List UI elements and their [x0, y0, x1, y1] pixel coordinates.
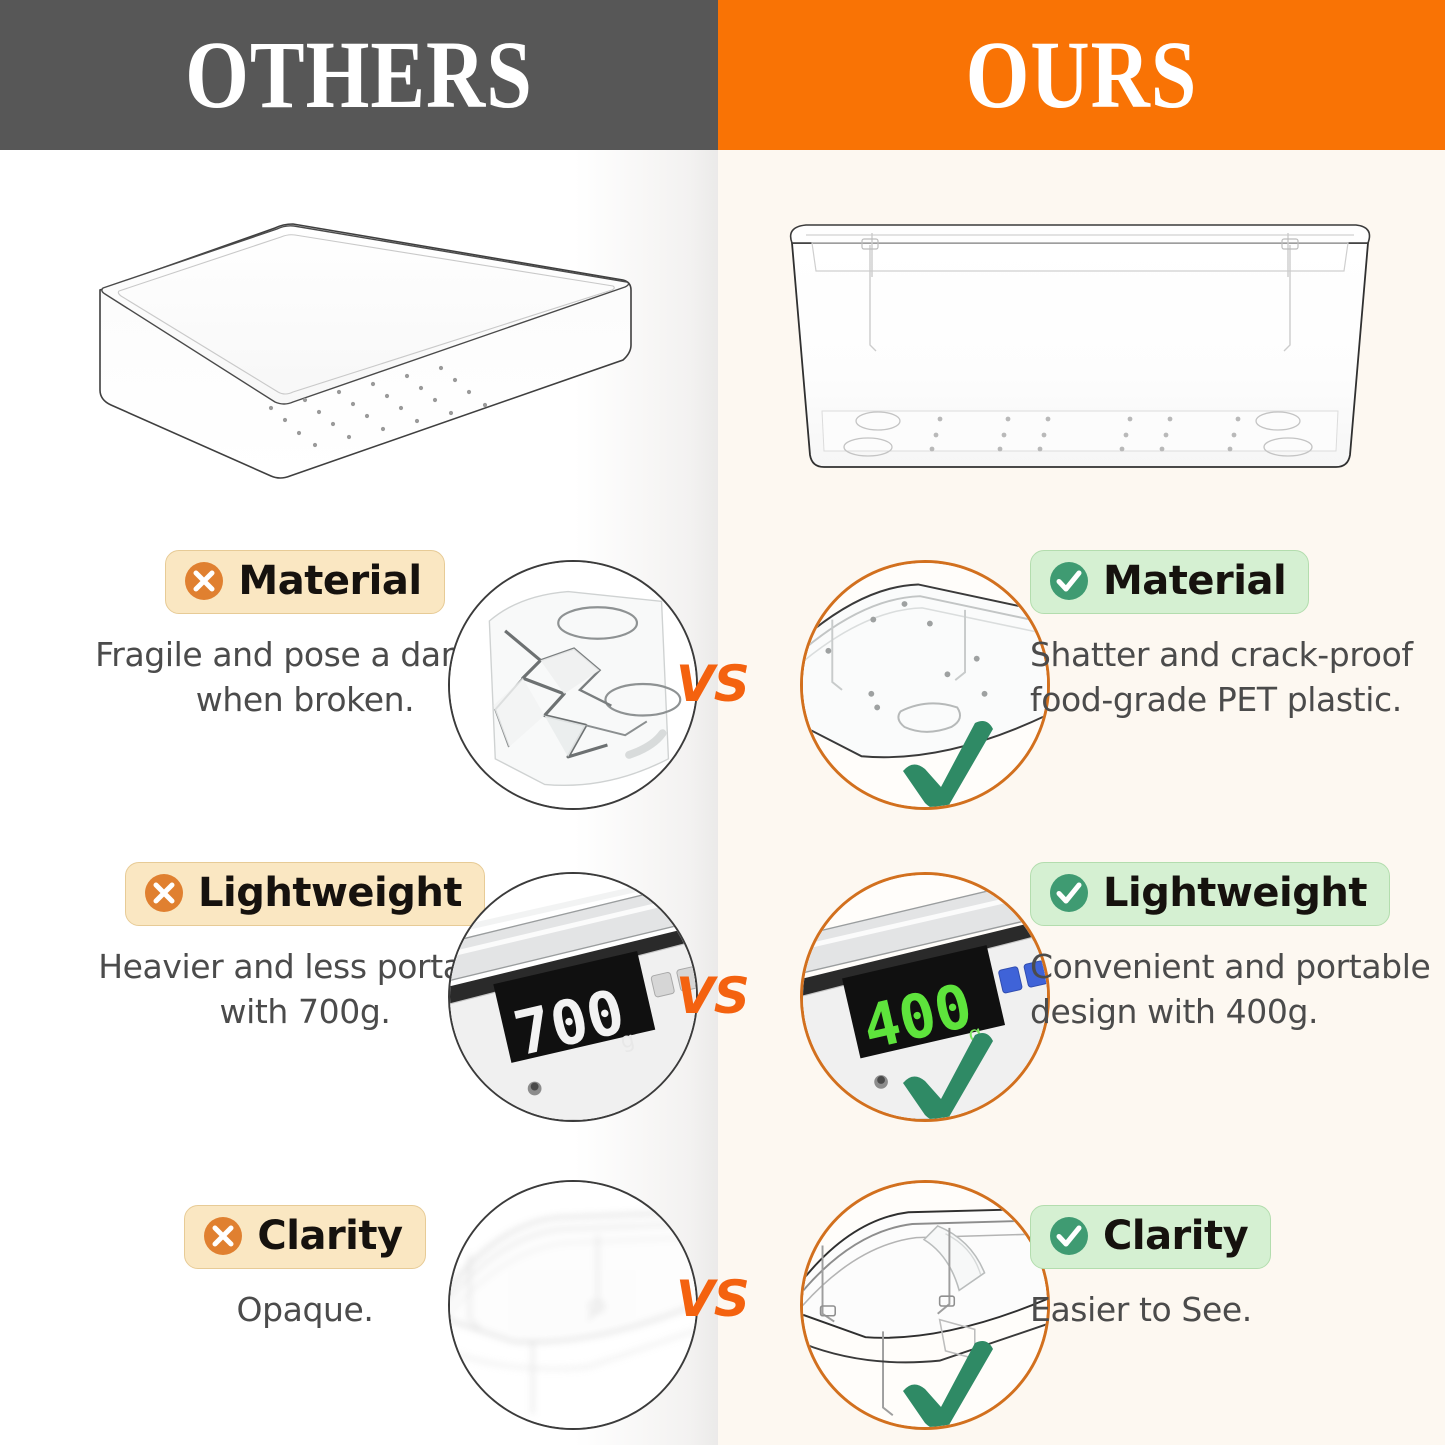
hero-image-others	[75, 220, 655, 490]
material-ours-block: Material Shatter and crack-proof food-gr…	[1030, 550, 1445, 722]
badge-lightweight-ours-label: Lightweight	[1103, 872, 1367, 914]
cross-circle-icon	[143, 872, 185, 914]
hero-images	[0, 150, 1445, 550]
badge-lightweight-others: Lightweight	[125, 862, 485, 926]
header-ours-title: OURS	[966, 27, 1198, 124]
badge-clarity-ours: Clarity	[1030, 1205, 1271, 1269]
lightweight-others-photo: 700 g	[448, 872, 698, 1122]
badge-lightweight-ours: Lightweight	[1030, 862, 1390, 926]
badge-material-ours: Material	[1030, 550, 1309, 614]
clarity-others-photo	[448, 1180, 698, 1430]
check-circle-icon	[1048, 1215, 1090, 1257]
vs-label-material: VS	[676, 655, 749, 713]
comparison-infographic: OTHERS OURS	[0, 0, 1445, 1445]
clarity-ours-photo	[800, 1180, 1050, 1430]
header-others-title: OTHERS	[185, 27, 533, 124]
badge-material-ours-label: Material	[1103, 560, 1286, 602]
badge-material-others: Material	[165, 550, 444, 614]
vs-label-clarity: VS	[676, 1270, 749, 1328]
lightweight-ours-description: Convenient and portable design with 400g…	[1030, 945, 1445, 1034]
comparison-row-material: Material Fragile and pose a danger when …	[0, 550, 1445, 850]
lightweight-ours-block: Lightweight Convenient and portable desi…	[1030, 862, 1445, 1034]
hero-image-ours	[750, 215, 1410, 500]
comparison-row-lightweight: Lightweight Heavier and less portable wi…	[0, 862, 1445, 1162]
vs-label-lightweight: VS	[676, 967, 749, 1025]
material-ours-photo	[800, 560, 1050, 810]
lightweight-ours-photo: 400 g	[800, 872, 1050, 1122]
header-bar: OTHERS OURS	[0, 0, 1445, 150]
check-circle-icon	[1048, 560, 1090, 602]
comparison-row-clarity: Clarity Opaque.	[0, 1160, 1445, 1445]
check-circle-icon	[1048, 872, 1090, 914]
badge-lightweight-others-label: Lightweight	[198, 872, 462, 914]
material-others-photo	[448, 560, 698, 810]
badge-clarity-ours-label: Clarity	[1103, 1215, 1248, 1257]
material-ours-description: Shatter and crack-proof food-grade PET p…	[1030, 633, 1445, 722]
clarity-ours-block: Clarity Easier to See.	[1030, 1205, 1445, 1333]
cross-circle-icon	[183, 560, 225, 602]
clarity-ours-description: Easier to See.	[1030, 1288, 1252, 1333]
badge-clarity-others-label: Clarity	[257, 1215, 402, 1257]
header-ours: OURS	[718, 0, 1445, 150]
header-others: OTHERS	[0, 0, 718, 150]
badge-material-others-label: Material	[238, 560, 421, 602]
cross-circle-icon	[202, 1215, 244, 1257]
badge-clarity-others: Clarity	[184, 1205, 425, 1269]
clarity-others-description: Opaque.	[237, 1288, 374, 1333]
